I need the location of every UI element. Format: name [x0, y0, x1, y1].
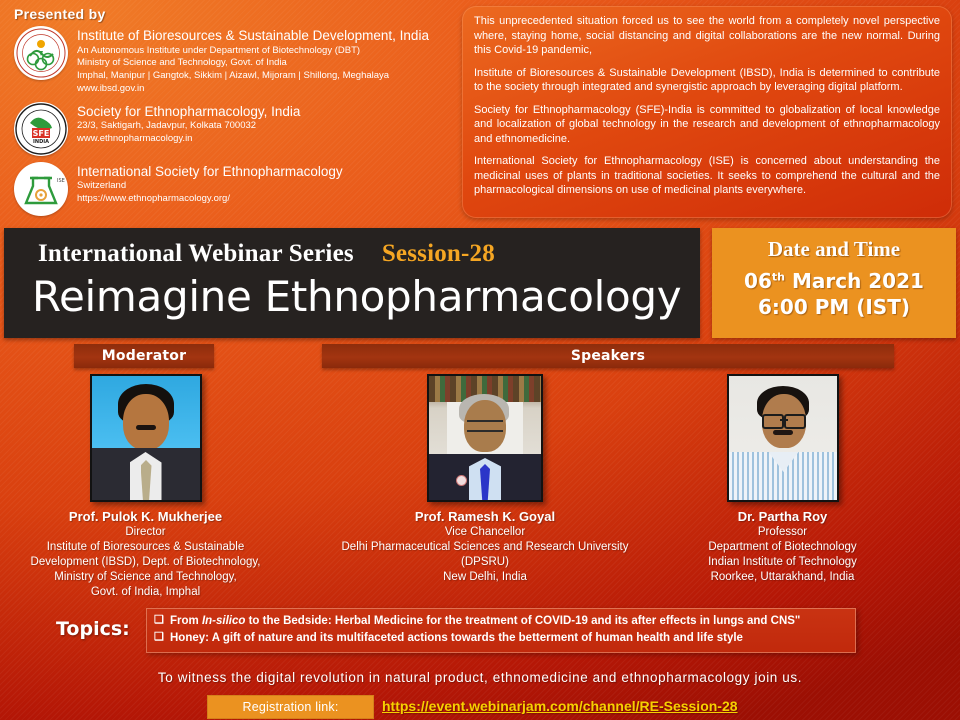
- date-ordinal: th: [772, 270, 785, 283]
- topic-item: ❑ From In-silico to the Bedside: Herbal …: [154, 614, 846, 628]
- topic-text-pre: From: [170, 615, 202, 627]
- speaker-name: Prof. Ramesh K. Goyal: [330, 509, 640, 525]
- session-label: Session-28: [382, 240, 495, 267]
- event-time: 6:00 PM (IST): [712, 295, 956, 321]
- organizer-text: Institute of Bioresources & Sustainable …: [77, 26, 429, 96]
- topics-box: ❑ From In-silico to the Bedside: Herbal …: [146, 608, 856, 653]
- organizer-line: 23/3, Saktigarh, Jadavpur, Kolkata 70003…: [77, 120, 300, 133]
- organizer-row: SFE INDIA Society for Ethnopharmacology,…: [14, 102, 464, 156]
- intro-paragraph: International Society for Ethnopharmacol…: [474, 154, 940, 198]
- topic-text-emphasis: In-silico: [202, 615, 245, 627]
- checkbox-bullet-icon: ❑: [154, 631, 170, 645]
- page-title: Reimagine Ethnopharmacology: [32, 272, 681, 321]
- topic-item: ❑ Honey: A gift of nature and its multif…: [154, 631, 846, 645]
- organizer-name: Society for Ethnopharmacology, India: [77, 104, 300, 120]
- speaker-info-line: Indian Institute of Technology: [665, 555, 900, 570]
- svg-text:ISE: ISE: [57, 178, 65, 184]
- organizer-text: International Society for Ethnopharmacol…: [77, 162, 343, 206]
- registration-url-link[interactable]: https://event.webinarjam.com/channel/RE-…: [382, 695, 738, 717]
- series-line: International Webinar SeriesSession-28: [38, 240, 495, 268]
- presented-by-label: Presented by: [14, 6, 464, 22]
- moderator-name: Prof. Pulok K. Mukherjee: [8, 509, 283, 525]
- moderator-card: Prof. Pulok K. Mukherjee Director Instit…: [8, 374, 283, 600]
- speaker-info-line: Professor: [665, 525, 900, 540]
- organizer-website[interactable]: www.ibsd.gov.in: [77, 83, 429, 96]
- organizer-row: ISE International Society for Ethnopharm…: [14, 162, 464, 216]
- speaker-info-line: (DPSRU): [330, 555, 640, 570]
- title-banner: International Webinar SeriesSession-28 R…: [4, 228, 700, 338]
- topic-text: From In-silico to the Bedside: Herbal Me…: [170, 614, 800, 628]
- svg-text:INDIA: INDIA: [33, 139, 49, 145]
- topics-label: Topics:: [56, 618, 130, 640]
- webinar-poster: Presented by Institute of Bioresources &…: [0, 0, 960, 720]
- speaker-photo: [427, 374, 543, 502]
- presented-by-section: Presented by Institute of Bioresources &…: [14, 6, 464, 222]
- moderator-photo: [90, 374, 202, 502]
- organizer-line: An Autonomous Institute under Department…: [77, 45, 429, 58]
- intro-paragraph: Society for Ethnopharmacology (SFE)-Indi…: [474, 103, 940, 147]
- organizer-line: Imphal, Manipur | Gangtok, Sikkim | Aiza…: [77, 70, 429, 83]
- moderator-info-line: Ministry of Science and Technology,: [8, 570, 283, 585]
- speaker-info-line: Roorkee, Uttarakhand, India: [665, 570, 900, 585]
- speaker-info-line: Department of Biotechnology: [665, 540, 900, 555]
- moderator-info-line: Institute of Bioresources & Sustainable: [8, 540, 283, 555]
- topic-text: Honey: A gift of nature and its multifac…: [170, 631, 743, 645]
- speaker-info-line: Vice Chancellor: [330, 525, 640, 540]
- organizer-name: International Society for Ethnopharmacol…: [77, 164, 343, 180]
- speaker-name: Dr. Partha Roy: [665, 509, 900, 525]
- speaker-info-line: New Delhi, India: [330, 570, 640, 585]
- organizer-row: Institute of Bioresources & Sustainable …: [14, 26, 464, 96]
- organizer-website[interactable]: https://www.ethnopharmacology.org/: [77, 193, 343, 206]
- ise-logo-icon: ISE: [14, 162, 68, 216]
- speaker-card: Dr. Partha Roy Professor Department of B…: [665, 374, 900, 585]
- moderator-info-line: Govt. of India, Imphal: [8, 585, 283, 600]
- moderator-info-line: Director: [8, 525, 283, 540]
- registration-link-label: Registration link:: [207, 695, 374, 719]
- intro-paragraph: This unprecedented situation forced us t…: [474, 14, 940, 58]
- organizer-line: Ministry of Science and Technology, Govt…: [77, 57, 429, 70]
- organizer-text: Society for Ethnopharmacology, India 23/…: [77, 102, 300, 146]
- series-label: International Webinar Series: [38, 240, 354, 267]
- topic-text-post: to the Bedside: Herbal Medicine for the …: [245, 615, 800, 627]
- moderator-section-header: Moderator: [74, 344, 214, 368]
- speaker-photo: [727, 374, 839, 502]
- ibsd-logo-icon: [14, 26, 68, 80]
- checkbox-bullet-icon: ❑: [154, 614, 170, 628]
- organizer-website[interactable]: www.ethnopharmacology.in: [77, 133, 300, 146]
- speakers-section-header: Speakers: [322, 344, 894, 368]
- intro-text-card: This unprecedented situation forced us t…: [462, 6, 952, 218]
- speaker-card: Prof. Ramesh K. Goyal Vice Chancellor De…: [330, 374, 640, 585]
- date-time-box: Date and Time 06th March 2021 6:00 PM (I…: [712, 228, 956, 338]
- moderator-info-line: Development (IBSD), Dept. of Biotechnolo…: [8, 555, 283, 570]
- witness-line: To witness the digital revolution in nat…: [0, 670, 960, 685]
- intro-paragraph: Institute of Bioresources & Sustainable …: [474, 66, 940, 95]
- speaker-info-line: Delhi Pharmaceutical Sciences and Resear…: [330, 540, 640, 555]
- sfe-india-logo-icon: SFE INDIA: [14, 102, 68, 156]
- organizer-line: Switzerland: [77, 180, 343, 193]
- date-time-heading: Date and Time: [712, 237, 956, 262]
- date-rest: March 2021: [785, 269, 924, 293]
- event-date: 06th March 2021: [712, 269, 956, 295]
- svg-text:SFE: SFE: [33, 129, 50, 138]
- date-day: 06: [744, 269, 772, 293]
- organizer-name: Institute of Bioresources & Sustainable …: [77, 28, 429, 44]
